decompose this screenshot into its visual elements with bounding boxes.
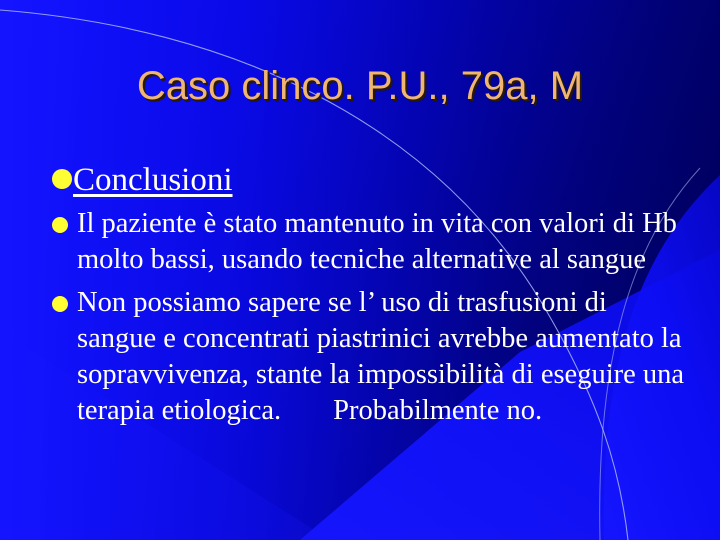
- bullet-dot-icon: [52, 169, 72, 189]
- list-item: Conclusioni: [52, 160, 702, 200]
- bullet-dot-icon: [52, 217, 68, 233]
- bullet-text-paziente: Il paziente è stato mantenuto in vita co…: [77, 206, 692, 278]
- slide-title-placeholder: Caso clinco. P.U., 79a, M: [0, 62, 720, 110]
- list-item: Il paziente è stato mantenuto in vita co…: [52, 206, 702, 278]
- presentation-slide: Caso clinco. P.U., 79a, M Conclusioni Il…: [0, 0, 720, 540]
- bullet-dot-icon: [52, 296, 68, 312]
- bullet-text-trasfusioni: Non possiamo sapere se l’ uso di trasfus…: [77, 285, 692, 429]
- list-item: Non possiamo sapere se l’ uso di trasfus…: [52, 285, 702, 429]
- bullet-text-trasfusioni-part2: Probabilmente no.: [333, 395, 542, 426]
- bullet-text-conclusioni: Conclusioni: [73, 160, 233, 200]
- page-title: Caso clinco. P.U., 79a, M: [137, 62, 583, 110]
- slide-body-placeholder: Conclusioni Il paziente è stato mantenut…: [52, 160, 702, 436]
